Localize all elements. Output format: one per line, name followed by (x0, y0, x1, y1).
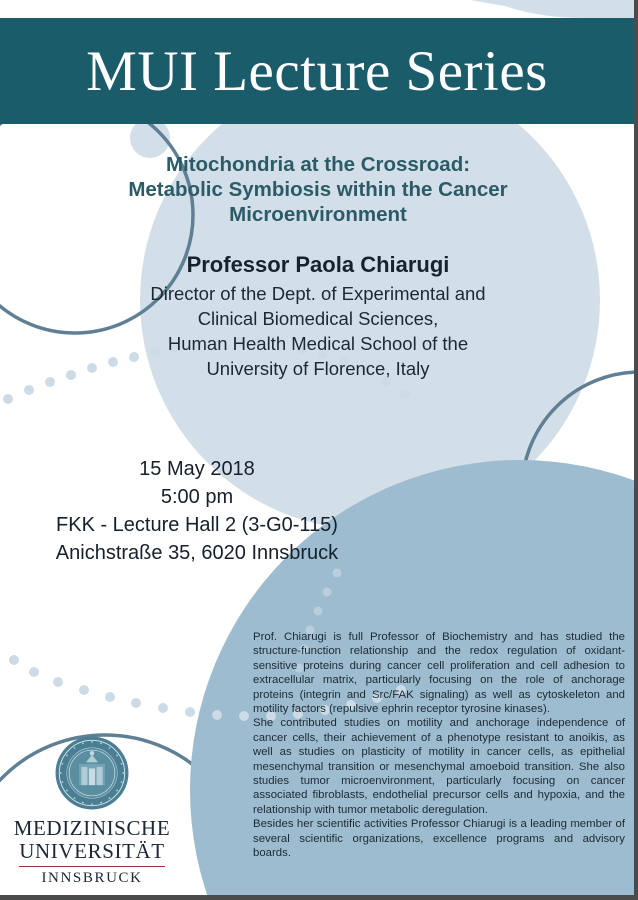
event-address: Anichstraße 35, 6020 Innsbruck (0, 539, 394, 567)
speaker-affiliation-line-4: University of Florence, Italy (50, 356, 586, 381)
logo-line-universitaet: UNIVERSITÄT (8, 840, 176, 863)
bio-paragraph-3: Besides her scientific activities Profes… (253, 817, 625, 860)
speaker-name: Professor Paola Chiarugi (50, 250, 586, 280)
speaker-affiliation-line-3: Human Health Medical School of the (50, 331, 586, 356)
event-time: 5:00 pm (0, 483, 394, 511)
bio-paragraph-1: Prof. Chiarugi is full Professor of Bioc… (253, 630, 625, 716)
event-venue: FKK - Lecture Hall 2 (3-G0-115) (0, 511, 394, 539)
bio-paragraph-2: She contributed studies on motility and … (253, 716, 625, 817)
speaker-bio: Prof. Chiarugi is full Professor of Bioc… (253, 630, 625, 861)
speaker-affiliation-line-1: Director of the Dept. of Experimental an… (50, 281, 586, 306)
logo-wordmark: MEDIZINISCHE UNIVERSITÄT INNSBRUCK (8, 817, 176, 887)
banner-title: MUI Lecture Series (86, 43, 548, 100)
event-date: 15 May 2018 (0, 455, 394, 483)
poster-page: MUI Lecture Series Mitochondria at the C… (0, 0, 638, 900)
lecture-title: Mitochondria at the Crossroad: Metabolic… (60, 152, 576, 227)
lecture-title-line-1: Mitochondria at the Crossroad: (60, 152, 576, 177)
logo-divider-rule (19, 866, 165, 867)
top-accent-shape (470, 0, 638, 18)
lecture-title-line-2: Metabolic Symbiosis within the Cancer (60, 177, 576, 202)
header-banner: MUI Lecture Series (0, 18, 634, 124)
lecture-title-line-3: Microenvironment (60, 202, 576, 227)
university-logo: MEDIZINISCHE UNIVERSITÄT INNSBRUCK (8, 735, 176, 887)
logo-line-innsbruck: INNSBRUCK (8, 870, 176, 887)
university-seal-icon (54, 735, 130, 811)
logo-line-medizinische: MEDIZINISCHE (8, 817, 176, 840)
speaker-affiliation-line-2: Clinical Biomedical Sciences, (50, 306, 586, 331)
speaker-block: Professor Paola Chiarugi Director of the… (50, 250, 586, 381)
event-details: 15 May 2018 5:00 pm FKK - Lecture Hall 2… (0, 455, 394, 567)
